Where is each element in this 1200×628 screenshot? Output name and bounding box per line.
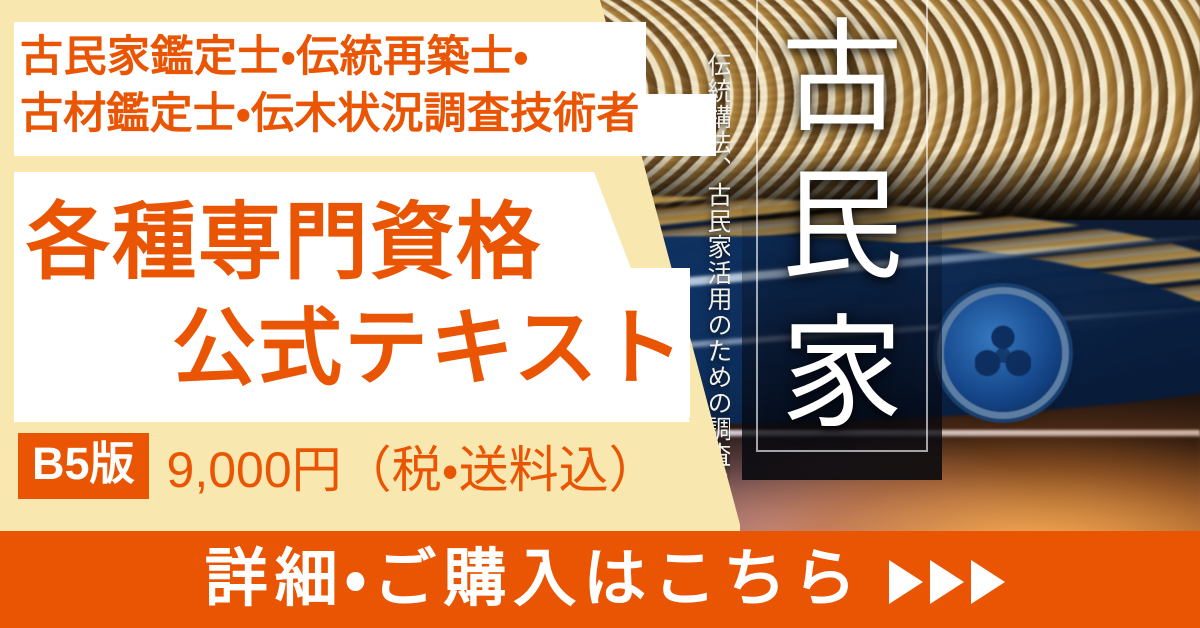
book-title-char-2: 民: [781, 167, 903, 289]
format-badge: B5版: [18, 433, 149, 500]
cta-arrows: [889, 560, 1005, 604]
chevron-right-icon: [930, 560, 964, 604]
promo-banner: 古 民 家 伝統構法、古民家活用のための調査と再生の 古民家鑑定士・伝統再築士・…: [0, 0, 1200, 628]
price-row: B5版 9,000円（税・送料込）: [18, 429, 659, 503]
chevron-right-icon: [889, 560, 923, 604]
cta-button[interactable]: 詳細・ご購入はこちら: [0, 531, 1200, 628]
certifications-text: 古民家鑑定士・伝統再築士・ 古材鑑定士・伝木状況調査技術者: [20, 29, 720, 143]
certifications-line-2: 古材鑑定士・伝木状況調査技術者: [20, 86, 720, 143]
cta-label: 詳細・ご購入はこちら: [195, 548, 863, 611]
certifications-line-1: 古民家鑑定士・伝統再築士・: [20, 29, 720, 86]
family-crest-medallion: [944, 294, 1062, 412]
chevron-right-icon: [971, 560, 1005, 604]
book-cover: 古 民 家: [742, 0, 942, 480]
price-amount: 9,000円（税・送料込）: [167, 430, 659, 502]
book-title-char-3: 家: [781, 315, 903, 437]
book-cover-title: 古 民 家: [742, 6, 942, 450]
book-title-char-1: 古: [781, 19, 903, 141]
crest-mon-icon: [975, 325, 1032, 382]
